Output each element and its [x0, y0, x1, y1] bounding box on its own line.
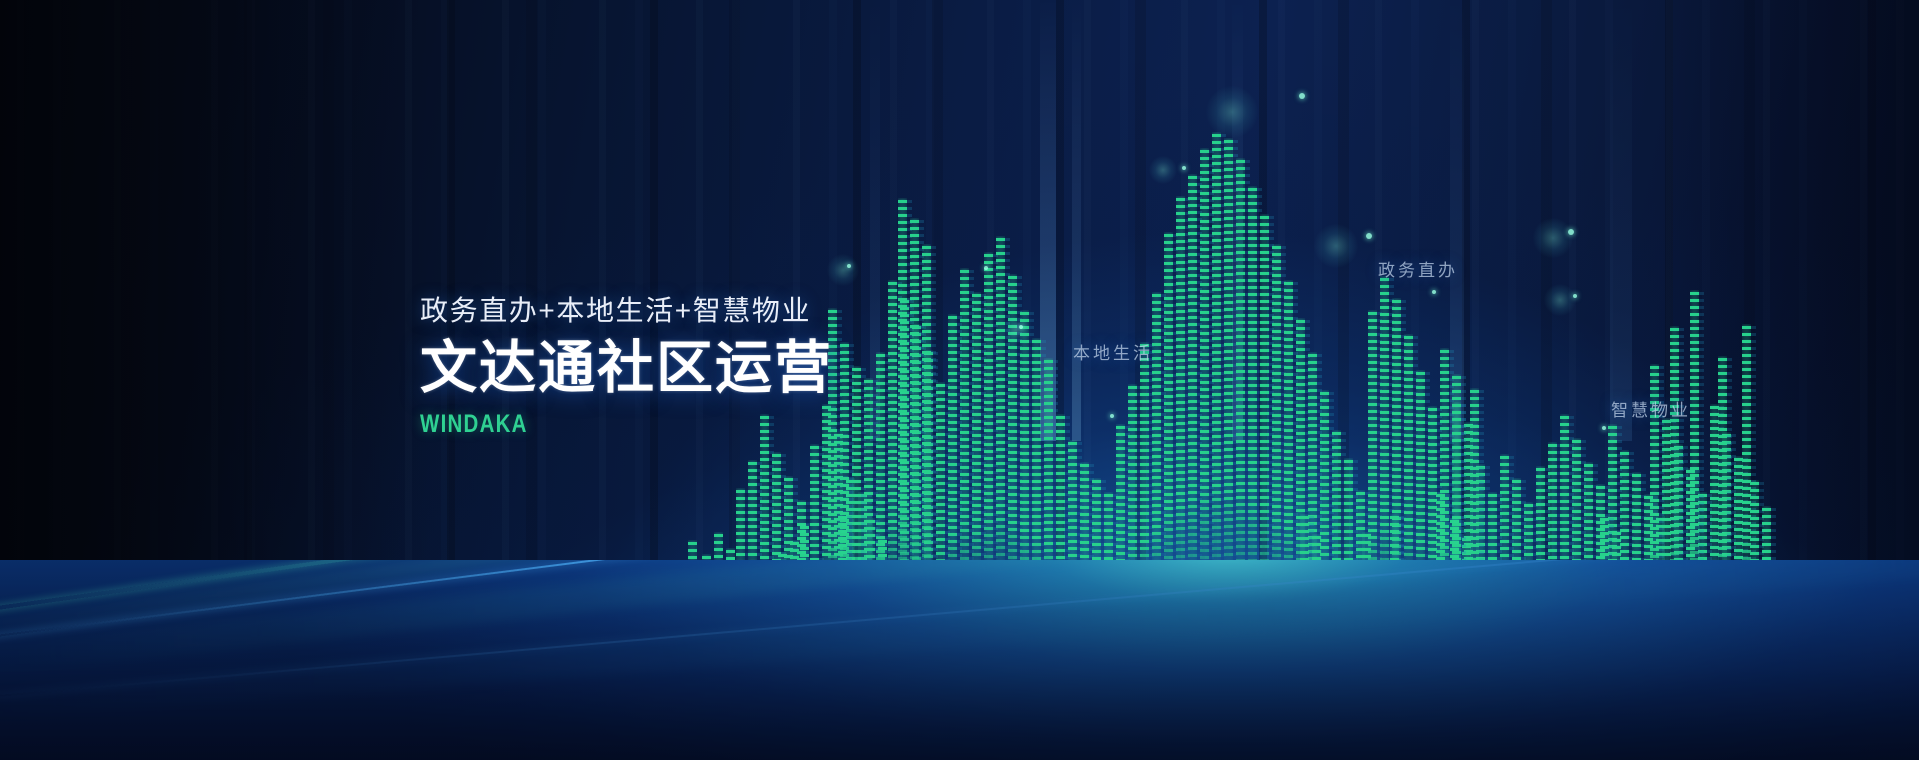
skyline-bar [1188, 174, 1197, 610]
category-tag-smart-property[interactable]: 智慧物业 [1611, 396, 1691, 421]
category-tag-government[interactable]: 政务直办 [1378, 256, 1458, 281]
perspective-ground [0, 560, 1919, 760]
skyline-bar [984, 252, 993, 610]
skyline-bar [1236, 158, 1245, 610]
skyline-bar [1212, 132, 1221, 610]
hero-copy-block: 政务直办+本地生活+智慧物业 文达通社区运营 WINDAKA [420, 296, 833, 439]
skyline-bar [1164, 232, 1173, 610]
skyline-bar [960, 268, 969, 610]
skyline-bar [898, 198, 907, 610]
hero-subtitle: 政务直办+本地生活+智慧物业 [420, 296, 833, 325]
ground-shadow-overlay [0, 560, 1919, 760]
skyline-bar [910, 218, 919, 610]
dot-matrix-skyline-chart [0, 0, 1919, 640]
skyline-bar [996, 236, 1005, 610]
skyline-bar [1224, 138, 1233, 610]
skyline-bar [922, 244, 931, 610]
hero-headline: 文达通社区运营 [420, 339, 833, 398]
category-tag-local-life[interactable]: 本地生活 [1073, 339, 1153, 364]
hero-banner: 政务直办+本地生活+智慧物业 文达通社区运营 WINDAKA 本地生活 政务直办… [0, 0, 1919, 760]
brand-wordmark: WINDAKA [420, 410, 759, 439]
skyline-bar [1260, 214, 1269, 610]
skyline-bar [1248, 186, 1257, 610]
skyline-bar [1200, 148, 1209, 610]
skyline-bar [1272, 244, 1281, 610]
skyline-bar [1176, 196, 1185, 610]
